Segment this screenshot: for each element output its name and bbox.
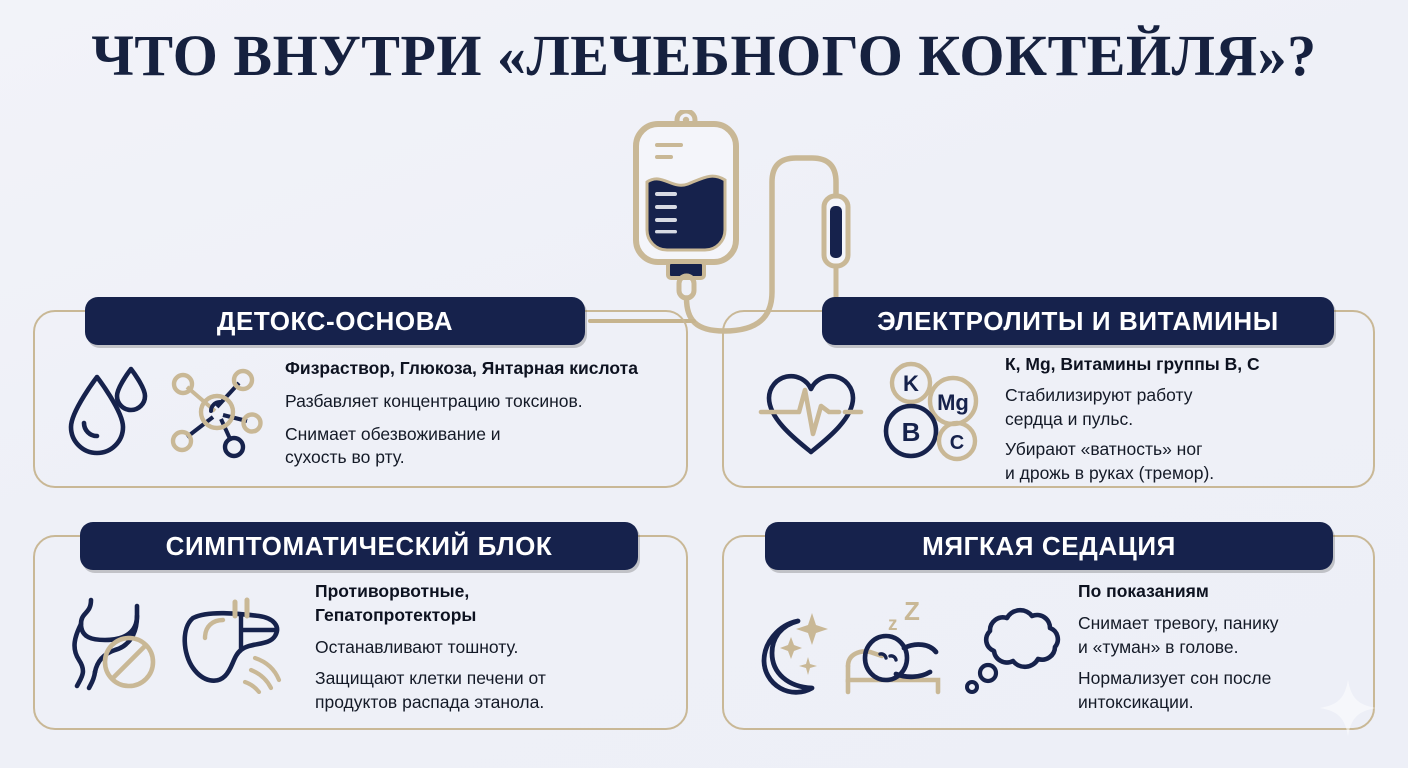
card-electrolytes-text: К, Mg, Витамины группы В, С Стабилизирую… <box>985 353 1365 485</box>
heart-pulse-icon <box>755 362 867 465</box>
card-detox-body: Физраствор, Глюкоза, Янтарная кислота Ра… <box>63 355 673 475</box>
card-detox-line-3: сухость во рту. <box>285 446 673 469</box>
card-symptomatic-text: Противорвотные, Гепатопротекторы Останав… <box>293 580 673 714</box>
molecule-icon <box>167 361 267 466</box>
card-electrolytes-line-4: и дрожь в руках (тремор). <box>1005 462 1365 485</box>
moon-stars-icon <box>748 599 834 700</box>
card-sedation-lead: По показаниям <box>1078 580 1366 603</box>
svg-text:K: K <box>903 371 919 396</box>
card-electrolytes-line-3: Убирают «ватность» ног <box>1005 438 1365 461</box>
thought-cloud-icon <box>960 597 1064 702</box>
card-symptomatic-line-3: продуктов распада этанола. <box>315 691 673 714</box>
card-symptomatic-lead-2: Гепатопротекторы <box>315 604 673 627</box>
card-sedation-line-1: Снимает тревогу, панику <box>1078 612 1366 635</box>
svg-text:Z: Z <box>904 596 920 626</box>
card-electrolytes-body: K Mg B C К, Mg, Витамины группы В, С Ста… <box>755 353 1365 477</box>
card-sedation-title-label: МЯГКАЯ СЕДАЦИЯ <box>922 531 1176 562</box>
card-electrolytes-icons: K Mg B C <box>755 353 985 468</box>
card-electrolytes-line-1: Стабилизируют работу <box>1005 384 1365 407</box>
infographic-canvas: ЧТО ВНУТРИ «ЛЕЧЕБНОГО КОКТЕЙЛЯ»? <box>0 0 1408 768</box>
sparkle-decor-icon <box>1318 678 1378 738</box>
card-sedation-title: МЯГКАЯ СЕДАЦИЯ <box>765 522 1333 570</box>
card-detox-line-1: Разбавляет концентрацию токсинов. <box>285 390 673 413</box>
card-detox-text: Физраствор, Глюкоза, Янтарная кислота Ра… <box>267 355 673 469</box>
card-symptomatic-line-2: Защищают клетки печени от <box>315 667 673 690</box>
card-electrolytes-title-label: ЭЛЕКТРОЛИТЫ И ВИТАМИНЫ <box>877 306 1279 337</box>
card-symptomatic-body: Противорвотные, Гепатопротекторы Останав… <box>63 580 673 715</box>
sleeping-person-icon: Z z <box>838 596 956 703</box>
liver-icon <box>175 592 293 699</box>
card-electrolytes-title: ЭЛЕКТРОЛИТЫ И ВИТАМИНЫ <box>822 297 1334 345</box>
card-sedation-line-2: и «туман» в голове. <box>1078 636 1366 659</box>
card-symptomatic-icons <box>63 580 293 699</box>
card-detox-lead: Физраствор, Глюкоза, Янтарная кислота <box>285 357 673 380</box>
iv-drip-bag-icon <box>600 110 860 335</box>
svg-text:B: B <box>902 417 921 447</box>
card-detox-icons <box>63 355 267 466</box>
svg-text:z: z <box>888 614 898 635</box>
card-detox-title-label: ДЕТОКС-ОСНОВА <box>217 306 453 337</box>
card-sedation-icons: Z z <box>748 578 1064 703</box>
page-title: ЧТО ВНУТРИ «ЛЕЧЕБНОГО КОКТЕЙЛЯ»? <box>0 22 1408 89</box>
svg-text:C: C <box>950 432 964 454</box>
card-detox-line-2: Снимает обезвоживание и <box>285 423 673 446</box>
card-sedation-body: Z z <box>748 578 1366 718</box>
card-symptomatic-lead-1: Противорвотные, <box>315 580 673 603</box>
card-symptomatic-title: СИМПТОМАТИЧЕСКИЙ БЛОК <box>80 522 638 570</box>
card-electrolytes-lead: К, Mg, Витамины группы В, С <box>1005 353 1365 376</box>
svg-text:Mg: Mg <box>937 390 969 415</box>
elements-circles-icon: K Mg B C <box>881 359 985 468</box>
card-symptomatic-title-label: СИМПТОМАТИЧЕСКИЙ БЛОК <box>166 531 553 562</box>
stomach-no-nausea-icon <box>63 592 167 699</box>
card-electrolytes-line-2: сердца и пульс. <box>1005 408 1365 431</box>
card-detox-title: ДЕТОКС-ОСНОВА <box>85 297 585 345</box>
card-symptomatic-line-1: Останавливают тошноту. <box>315 636 673 659</box>
water-drop-icon <box>63 363 149 464</box>
